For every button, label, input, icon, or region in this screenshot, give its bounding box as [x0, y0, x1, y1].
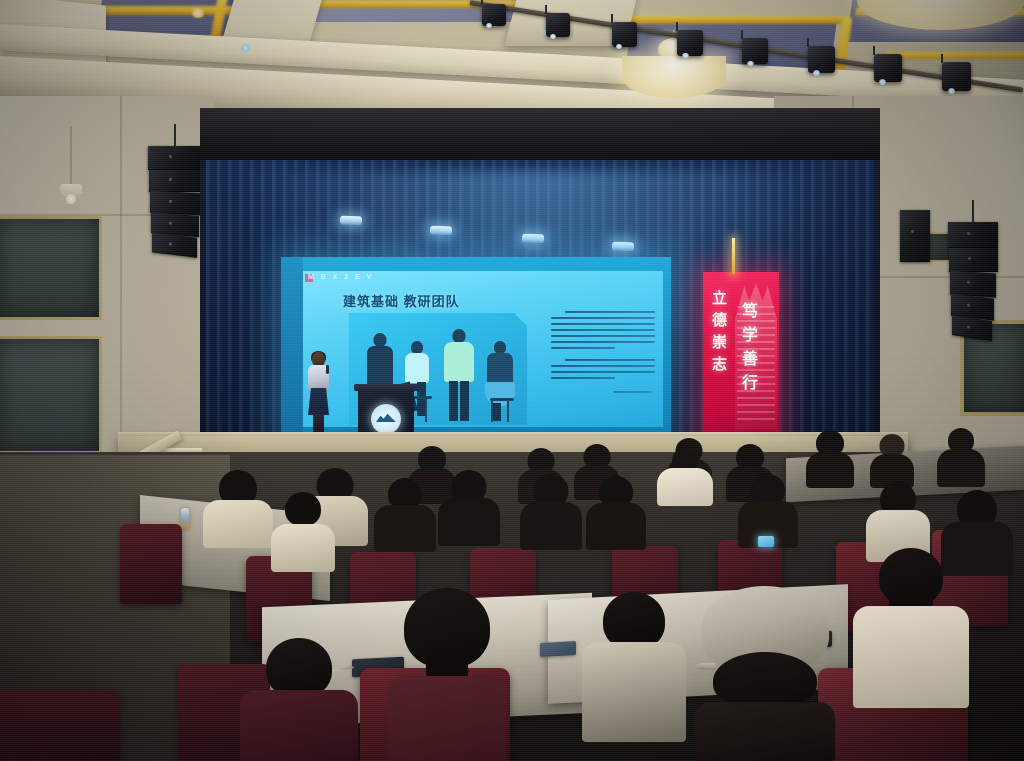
photo-person-leg: [449, 381, 458, 421]
photo-person-head: [453, 329, 466, 343]
slide-watermark: M B X 2 E V: [308, 274, 374, 281]
stage-batten-light: [612, 242, 634, 252]
audience-shoulders: [271, 524, 335, 572]
audience-member: [440, 470, 498, 546]
slide-text-line: [565, 359, 655, 361]
photo-person-body: [444, 342, 474, 382]
acoustic-panel: [0, 336, 102, 454]
speaker-cabinet-small: [900, 210, 930, 262]
downlight: [240, 44, 251, 52]
banner-char: 笃学善行: [739, 302, 755, 398]
audience-shoulders: [657, 468, 713, 506]
cove-light: [886, 52, 1024, 59]
slide-body-text: [551, 311, 655, 397]
stage-batten-light: [340, 216, 362, 226]
audience-shoulders: [582, 642, 686, 742]
speaker-hanger: [972, 200, 974, 222]
audience-shoulders: [806, 452, 854, 488]
speaker-cabinet: [152, 232, 197, 258]
banner-column-left: 立德崇志: [711, 290, 726, 378]
spotlight-lens: [550, 34, 556, 39]
audience-member: [376, 478, 434, 552]
audience-shoulders: [520, 502, 582, 550]
photo-stool-seat: [490, 398, 514, 401]
chandelier-bowl: [857, 0, 1024, 30]
spotlight-body: [942, 62, 971, 91]
slide-text-line: [551, 323, 655, 325]
podium-emblem-icon: [371, 404, 401, 434]
spotlight-lens: [682, 53, 689, 58]
slide-text-line: [565, 311, 655, 313]
audience-member: [206, 470, 270, 548]
presenter-skirt: [308, 388, 329, 415]
speaker-cabinet: [148, 146, 202, 170]
chandelier: [856, 0, 1024, 42]
spotlight-lens: [486, 23, 492, 28]
spotlight-lens: [813, 70, 820, 76]
front-audience-member: [244, 638, 354, 761]
photo-person-head: [374, 333, 387, 347]
slide-text-line: [551, 365, 655, 367]
stage-batten-light: [430, 226, 452, 236]
pendant-cord: [71, 126, 72, 186]
acoustic-panel: [0, 216, 102, 320]
audience-shoulders: [203, 500, 273, 548]
downlight-warm: [190, 8, 206, 18]
slide-text-line: [551, 329, 655, 331]
banner-column-right: 笃学善行: [739, 302, 755, 398]
spotlight-body: [612, 22, 637, 47]
front-chair: [0, 690, 120, 761]
notebook: [540, 641, 576, 657]
slide-text-line: [551, 335, 655, 337]
slide-signature-line: [613, 391, 653, 393]
speaker-cabinet: [149, 170, 202, 192]
spotlight-lens: [879, 79, 886, 85]
audience-shoulders: [586, 503, 646, 550]
phone-screen: [758, 536, 774, 547]
speaker-cabinet: [948, 222, 998, 248]
chandelier-bowl: [622, 56, 726, 98]
audience-shoulders: [853, 606, 969, 708]
audience-member: [588, 476, 644, 550]
pendant-bulb: [66, 194, 76, 204]
slide-text-line: [551, 377, 615, 379]
stage-red-banner: 立德崇志 笃学善行: [703, 272, 779, 440]
audience-member: [522, 474, 580, 550]
audience-head: [266, 638, 332, 698]
photo-person-body: [487, 353, 513, 383]
front-audience-member: [586, 592, 682, 742]
audience-member: [272, 492, 334, 572]
spotlight-body: [677, 30, 703, 56]
front-audience-member: [392, 588, 502, 761]
spotlight-body: [874, 54, 902, 82]
slide-text-line: [551, 371, 655, 373]
photo-person-body: [367, 346, 393, 386]
audience-member: [872, 434, 912, 488]
spotlight-body: [482, 4, 506, 26]
speaker-cabinet: [949, 248, 998, 272]
photo-stool: [491, 398, 509, 422]
mountain-logo-icon: [376, 413, 396, 422]
microphone-icon: [326, 365, 329, 374]
presenter-legs: [313, 414, 324, 434]
spotlight-lens: [616, 44, 622, 49]
screen-left-bar: [281, 257, 303, 437]
audience-shoulders: [388, 676, 506, 761]
stage-valance: [200, 108, 880, 160]
audience-shoulders: [240, 690, 358, 761]
front-audience-member: [856, 548, 966, 708]
front-audience-member-with-cap: [700, 586, 830, 761]
cove-light: [611, 16, 847, 24]
audience-shoulders: [695, 702, 835, 761]
spotlight-lens: [747, 61, 754, 66]
audience-shoulders: [937, 449, 985, 487]
speaker-array-right: [948, 200, 998, 334]
spotlight-body: [742, 38, 768, 64]
audience-shoulders: [374, 505, 436, 552]
audience-member: [940, 428, 982, 488]
slide-text-line: [551, 341, 655, 343]
pendant-light: [60, 126, 82, 206]
slide-title: 建筑基础 教研团队: [343, 291, 460, 310]
audience-member: [808, 430, 852, 488]
speaker-hanger: [174, 124, 176, 146]
podium-top: [354, 384, 418, 391]
photo-person-leg: [460, 381, 469, 421]
slide-text-line: [551, 347, 615, 349]
led-screen: M B X 2 E V 建筑基础 教研团队: [281, 257, 671, 437]
spotlight-lens: [948, 88, 955, 94]
banner-top-light: [732, 238, 735, 274]
auditorium-scene: M B X 2 E V 建筑基础 教研团队: [0, 0, 1024, 761]
slide-text-line: [551, 317, 655, 319]
audience-chair: [120, 524, 182, 604]
stage-batten-light: [522, 234, 544, 244]
spotlight-body: [546, 13, 570, 37]
audience-shoulders: [438, 498, 500, 546]
water-bottle: [181, 508, 189, 530]
banner-char: 立德崇志: [711, 290, 726, 378]
audience-member: [660, 448, 710, 506]
spotlight-body: [808, 46, 835, 73]
speaker-array-left: [148, 124, 202, 254]
photo-person-body: [405, 353, 429, 383]
slide-canvas: M B X 2 E V 建筑基础 教研团队: [303, 271, 663, 427]
cap-brim: [695, 663, 715, 670]
photo-person: [441, 329, 477, 421]
